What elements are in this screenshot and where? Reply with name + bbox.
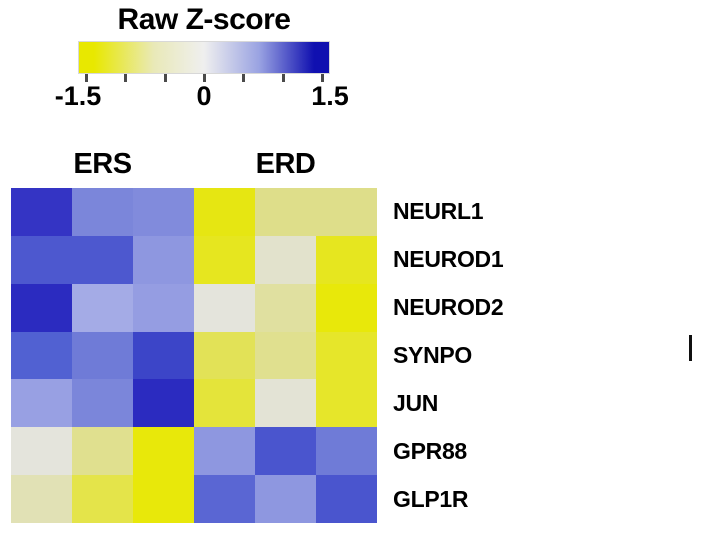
heatmap-cell <box>316 284 377 332</box>
heatmap-cell <box>72 475 133 523</box>
row-label: NEURL1 <box>393 200 593 223</box>
heatmap-cell <box>316 332 377 380</box>
heatmap-cell <box>316 379 377 427</box>
heatmap-cell <box>133 188 194 236</box>
heatmap-cell <box>11 236 72 284</box>
heatmap-cell <box>11 379 72 427</box>
heatmap-cell <box>133 332 194 380</box>
heatmap-cell <box>133 236 194 284</box>
heatmap-cell <box>133 427 194 475</box>
group-label-erd: ERD <box>256 148 316 181</box>
heatmap-cell <box>133 475 194 523</box>
colorbar-tick-label: -1.5 <box>55 81 102 112</box>
tick-mark-icon <box>689 335 692 361</box>
heatmap-cell <box>316 427 377 475</box>
heatmap-cell <box>194 475 255 523</box>
row-label: NEUROD2 <box>393 296 593 319</box>
heatmap-cell <box>255 284 316 332</box>
heatmap-cell <box>11 427 72 475</box>
row-label: SYNPO <box>393 344 593 367</box>
row-label: GPR88 <box>393 440 593 463</box>
heatmap-cell <box>194 284 255 332</box>
colorbar-tick-labels: -1.501.5 <box>78 83 330 113</box>
heatmap-cell <box>72 379 133 427</box>
heatmap-cell <box>11 332 72 380</box>
heatmap-cell <box>255 236 316 284</box>
group-headers: ERSERD <box>11 148 377 186</box>
gene-row-labels: NEURL1NEUROD1NEUROD2SYNPOJUNGPR88GLP1R <box>393 188 593 523</box>
heatmap-cell <box>72 188 133 236</box>
heatmap-cell <box>11 188 72 236</box>
row-label: NEUROD1 <box>393 248 593 271</box>
heatmap-cell <box>133 379 194 427</box>
heatmap-cell <box>133 284 194 332</box>
heatmap-cell <box>72 332 133 380</box>
colorbar-gradient <box>79 42 329 73</box>
heatmap-cell <box>255 475 316 523</box>
heatmap-cell <box>316 188 377 236</box>
heatmap-cell <box>194 236 255 284</box>
heatmap-cell <box>72 427 133 475</box>
heatmap-cell <box>194 332 255 380</box>
colorbar-tick <box>164 74 167 82</box>
heatmap-cell <box>11 475 72 523</box>
heatmap-cell <box>255 332 316 380</box>
heatmap-cell <box>72 236 133 284</box>
colorbar-tick-label: 1.5 <box>311 81 349 112</box>
heatmap-cell <box>11 284 72 332</box>
colorbar-legend: Raw Z-score -1.501.5 <box>78 2 330 113</box>
heatmap-cell <box>255 379 316 427</box>
row-label: GLP1R <box>393 488 593 511</box>
colorbar-tick <box>282 74 285 82</box>
colorbar-tick <box>242 74 245 82</box>
heatmap-cell <box>316 475 377 523</box>
heatmap-cell <box>194 379 255 427</box>
colorbar <box>78 41 330 74</box>
heatmap-grid <box>11 188 377 523</box>
legend-title: Raw Z-score <box>78 2 330 38</box>
heatmap-cell <box>255 188 316 236</box>
heatmap-cell <box>72 284 133 332</box>
colorbar-tick-label: 0 <box>196 81 211 112</box>
heatmap-cell <box>194 188 255 236</box>
colorbar-tick <box>124 74 127 82</box>
group-label-ers: ERS <box>73 148 131 181</box>
heatmap-cell <box>316 236 377 284</box>
heatmap-cell <box>255 427 316 475</box>
row-label: JUN <box>393 392 593 415</box>
heatmap-cell <box>194 427 255 475</box>
